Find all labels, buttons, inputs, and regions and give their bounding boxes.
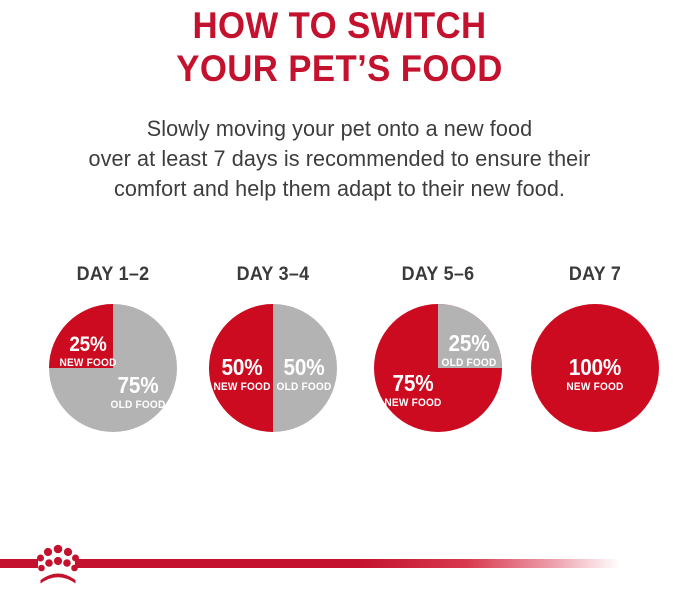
pie-svg-1 <box>209 304 337 432</box>
pie-svg-0 <box>49 304 177 432</box>
pie-graphic-1: 50% NEW FOOD 50% OLD FOOD <box>209 304 337 432</box>
page-title: HOW TO SWITCH YOUR PET’S FOOD <box>0 4 679 90</box>
intro-line-2: over at least 7 days is recommended to e… <box>14 144 666 174</box>
day-label-2: DAY 5–6 <box>364 262 511 290</box>
infographic-page: HOW TO SWITCH YOUR PET’S FOOD Slowly mov… <box>0 0 679 594</box>
pie-graphic-0: 25% NEW FOOD 75% OLD FOOD <box>49 304 177 432</box>
pie-chart-day-1-2: DAY 1–2 25% NEW FOOD 75% OLD FOOD <box>33 262 193 432</box>
pie-slice-new-food-0 <box>49 304 113 368</box>
pie-chart-day-5-6: DAY 5–6 25% OLD FOOD 75% NEW FOOD <box>358 262 518 432</box>
pie-chart-day-7: DAY 7 100% NEW FOOD <box>515 262 675 432</box>
title-line-2: YOUR PET’S FOOD <box>20 47 658 90</box>
pie-chart-day-3-4: DAY 3–4 50% NEW FOOD 50% OLD FOOD <box>193 262 353 432</box>
pie-graphic-2: 25% OLD FOOD 75% NEW FOOD <box>374 304 502 432</box>
pie-svg-3 <box>531 304 659 432</box>
title-line-1: HOW TO SWITCH <box>20 4 658 47</box>
footer-bar-left <box>0 559 38 568</box>
footer-bar-right <box>75 559 620 568</box>
crown-logo <box>37 540 79 586</box>
pie-graphic-3: 100% NEW FOOD <box>531 304 659 432</box>
day-label-0: DAY 1–2 <box>39 262 186 290</box>
pie-slice-new-food-3 <box>531 304 659 432</box>
intro-line-1: Slowly moving your pet onto a new food <box>14 114 666 144</box>
intro-paragraph: Slowly moving your pet onto a new food o… <box>0 114 679 204</box>
pie-slice-old-food-2 <box>438 304 502 368</box>
pie-slice-new-food-1 <box>209 304 273 432</box>
crown-icon <box>37 540 79 586</box>
intro-line-3: comfort and help them adapt to their new… <box>14 174 666 204</box>
pie-svg-2 <box>374 304 502 432</box>
pie-chart-row: DAY 1–2 25% NEW FOOD 75% OLD FOOD DAY 3–… <box>0 262 679 442</box>
day-label-3: DAY 7 <box>521 262 668 290</box>
day-label-1: DAY 3–4 <box>199 262 346 290</box>
footer <box>0 538 679 594</box>
